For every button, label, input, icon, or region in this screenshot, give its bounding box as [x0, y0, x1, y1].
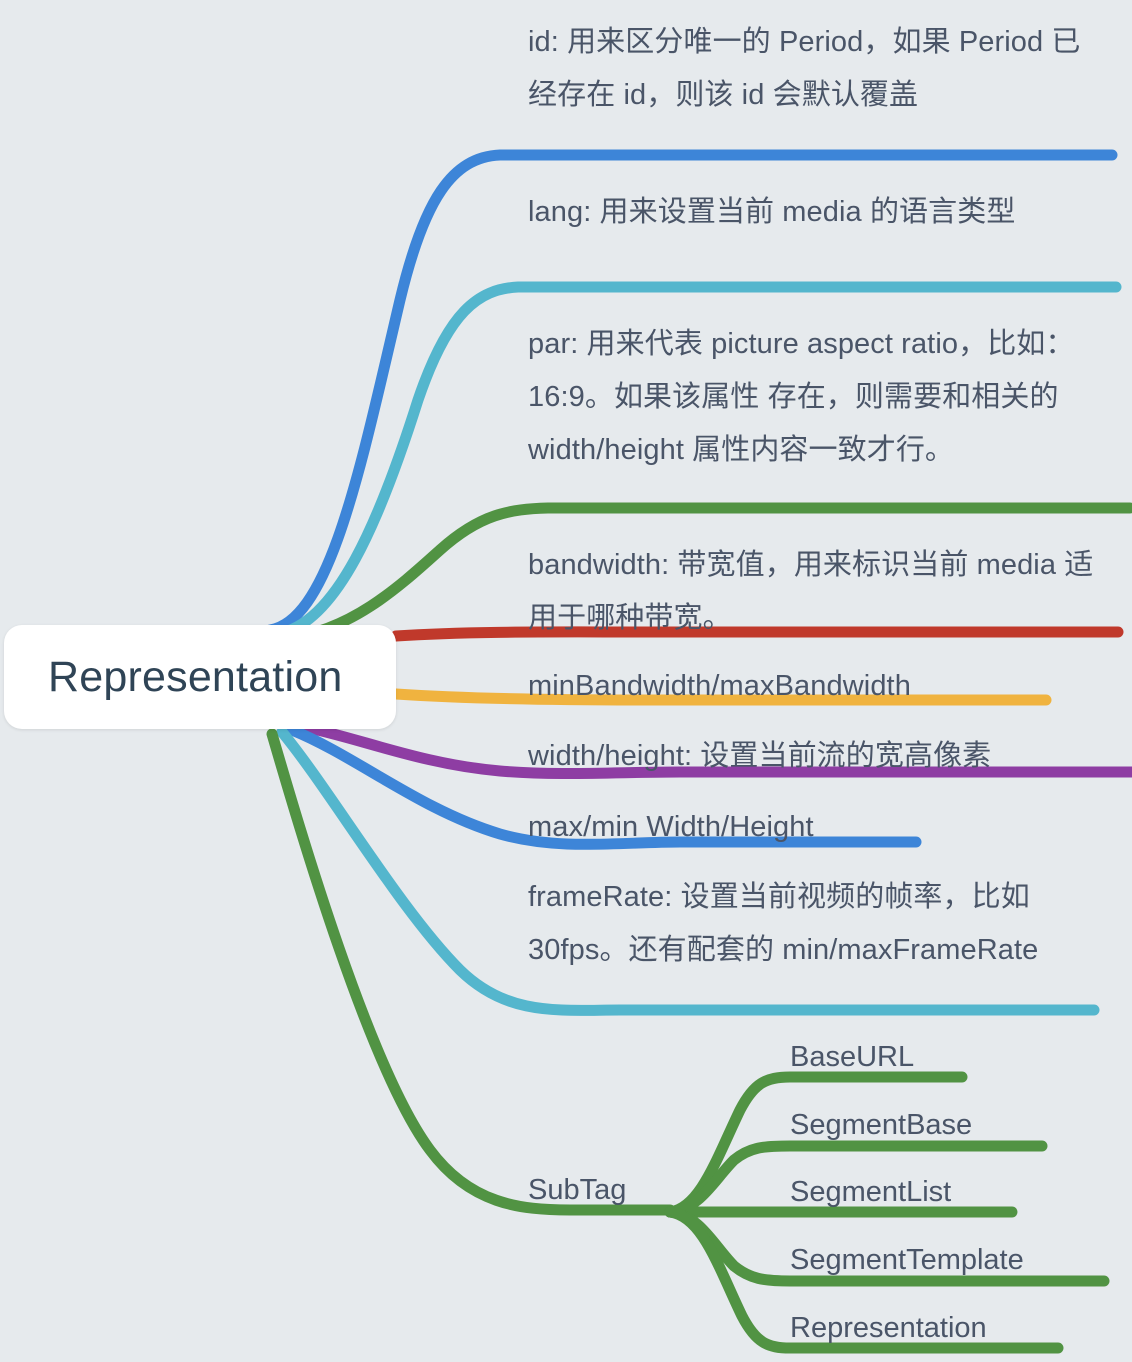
subnode-label-segmentlist[interactable]: SegmentList — [790, 1170, 951, 1214]
subnode-label-representation-sub[interactable]: Representation — [790, 1306, 987, 1350]
root-node[interactable]: Representation — [4, 625, 396, 729]
branch-label-lang[interactable]: lang: 用来设置当前 media 的语言类型 — [528, 186, 1108, 239]
branch-label-par[interactable]: par: 用来代表 picture aspect ratio，比如：16:9。如… — [528, 318, 1132, 477]
branch-label-max-min-width-height[interactable]: max/min Width/Height — [528, 801, 948, 854]
subnode-label-segmenttemplate[interactable]: SegmentTemplate — [790, 1238, 1024, 1282]
branch-label-width-height[interactable]: width/height: 设置当前流的宽高像素 — [528, 730, 1132, 783]
subnode-label-baseurl[interactable]: BaseURL — [790, 1035, 914, 1079]
branch-label-id[interactable]: id: 用来区分唯一的 Period，如果 Period 已经存在 id，则该 … — [528, 16, 1108, 122]
branch-label-minmax-bandwidth[interactable]: minBandwidth/maxBandwidth — [528, 660, 1068, 713]
mindmap-canvas: Representation id: 用来区分唯一的 Period，如果 Per… — [0, 0, 1132, 1362]
branch-label-bandwidth[interactable]: bandwidth: 带宽值，用来标识当前 media 适用于哪种带宽。 — [528, 539, 1108, 645]
subnode-label-segmentbase[interactable]: SegmentBase — [790, 1103, 972, 1147]
branch-label-subtag[interactable]: SubTag — [528, 1168, 626, 1212]
root-node-label: Representation — [4, 653, 342, 701]
branch-label-framerate[interactable]: frameRate: 设置当前视频的帧率，比如 30fps。还有配套的 min/… — [528, 871, 1100, 977]
